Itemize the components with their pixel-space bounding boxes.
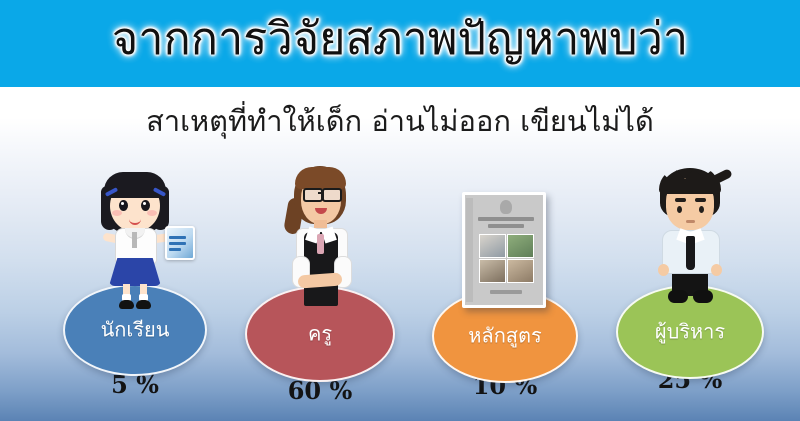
category-label: ครู — [247, 320, 393, 346]
curriculum-book-icon — [462, 192, 548, 310]
schoolgirl-icon — [87, 170, 183, 310]
necktie-icon — [686, 236, 695, 270]
male-administrator-icon — [644, 168, 736, 310]
figure-stage-student — [35, 160, 235, 310]
glasses-icon — [303, 188, 323, 202]
infographic-slide: จากการวิจัยสภาพปัญหาพบว่า สาเหตุที่ทำให้… — [0, 0, 800, 421]
category-label: นักเรียน — [65, 316, 205, 342]
figure-stage-curriculum — [405, 160, 605, 310]
figure-stage-teacher — [220, 160, 420, 310]
page-title: จากการวิจัยสภาพปัญหาพบว่า — [0, 8, 800, 70]
chart-item-curriculum[interactable]: หลักสูตร 10 % — [405, 160, 605, 421]
emblem-icon — [500, 200, 512, 214]
category-label: หลักสูตร — [434, 322, 576, 348]
female-teacher-icon — [274, 164, 366, 310]
chart-columns: นักเรียน 5 % — [0, 160, 800, 421]
subtitle: สาเหตุที่ทำให้เด็ก อ่านไม่ออก เขียนไม่ได… — [0, 100, 800, 142]
chart-item-administrator[interactable]: ผู้บริหาร 25 % — [590, 160, 790, 421]
figure-stage-administrator — [590, 160, 790, 310]
category-label: ผู้บริหาร — [618, 318, 762, 344]
chart-item-teacher[interactable]: ครู 60 % — [220, 160, 420, 421]
chart-item-student[interactable]: นักเรียน 5 % — [35, 160, 235, 421]
